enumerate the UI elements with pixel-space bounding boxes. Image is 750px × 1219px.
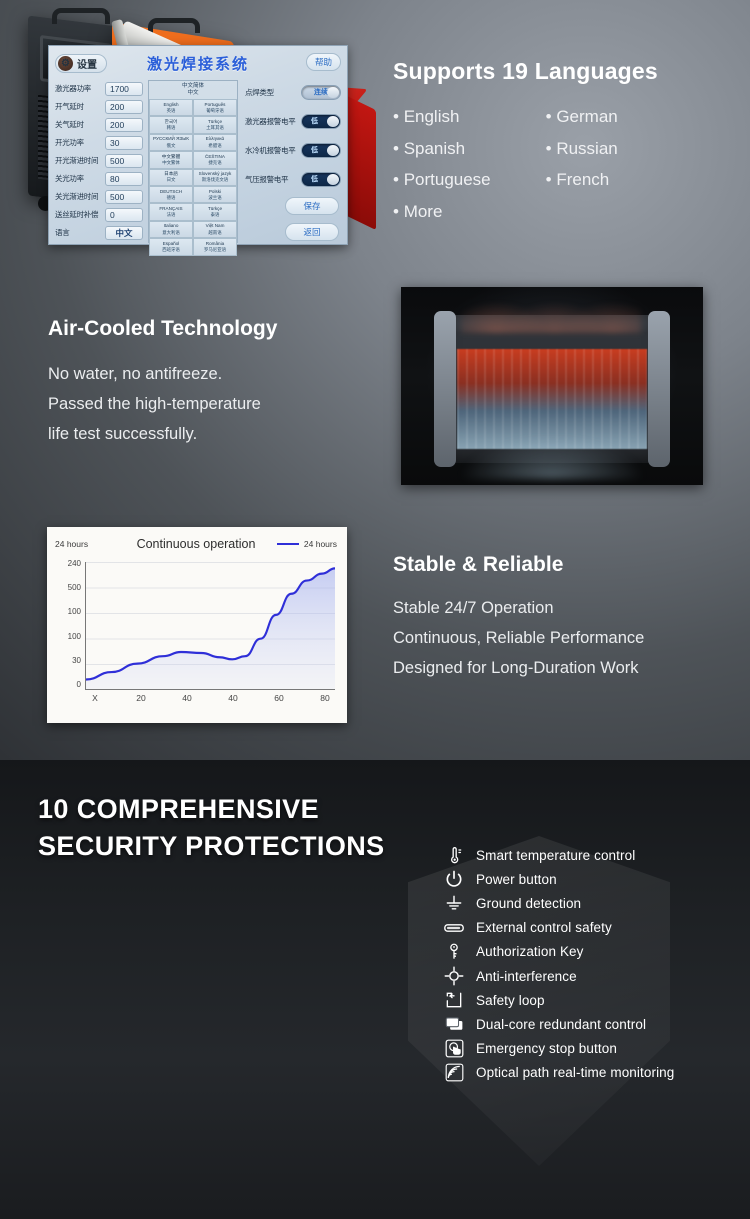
parameter-label: 关光功率 <box>55 173 102 184</box>
language-option[interactable]: Polski波兰语 <box>193 186 237 203</box>
legend-swatch <box>277 543 299 546</box>
language-option[interactable]: Italiano意大利语 <box>149 221 193 238</box>
dual-window-icon <box>443 1013 465 1035</box>
chart-plot: 240500100100300 X2040406080 <box>55 559 337 709</box>
languages-column-left: EnglishSpanishPortugueseMore <box>393 101 491 227</box>
languages-section: Supports 19 Languages EnglishSpanishPort… <box>393 58 723 227</box>
alarm-toggle-row: 水冷机报警电平低 <box>245 138 341 162</box>
language-option[interactable]: FRANÇAIS法语 <box>149 203 193 220</box>
security-feature-label: Safety loop <box>476 993 545 1008</box>
x-tick-label: X <box>92 693 98 703</box>
security-feature-list: Smart temperature controlPower buttonGro… <box>443 843 743 1085</box>
alarm-toggle-label: 激光器报警电平 <box>245 116 297 127</box>
language-option[interactable]: DEUTSCH德语 <box>149 186 193 203</box>
panel-icon <box>443 917 465 939</box>
stable-line-2: Continuous, Reliable Performance <box>393 623 733 653</box>
alarm-toggle[interactable]: 低 <box>301 114 341 129</box>
security-feature-label: Dual-core redundant control <box>476 1017 646 1032</box>
security-feature-row: External control safety <box>443 916 743 940</box>
thermal-test-photo <box>401 287 703 485</box>
alarm-toggle-value: 低 <box>311 116 318 128</box>
parameter-label: 开光功率 <box>55 137 102 148</box>
security-feature-row: Power button <box>443 867 743 891</box>
parameter-label: 开光渐进时间 <box>55 155 102 166</box>
thermometer-icon <box>443 844 465 866</box>
language-option[interactable]: 日本語日文 <box>149 169 193 186</box>
parameter-row: 语言中文 <box>55 224 143 241</box>
chart-x-axis: X2040406080 <box>85 693 335 707</box>
parameter-value[interactable]: 500 <box>105 154 143 168</box>
languages-column-right: GermanRussianFrench <box>546 101 618 227</box>
security-heading-line-2: SECURITY PROTECTIONS <box>38 828 458 865</box>
parameter-label: 关气延时 <box>55 119 102 130</box>
security-feature-row: Anti-interference <box>443 964 743 988</box>
language-bullet: Russian <box>546 133 618 165</box>
crosshair-icon <box>443 965 465 987</box>
security-heading: 10 COMPREHENSIVE SECURITY PROTECTIONS <box>38 791 458 865</box>
parameter-row: 关光渐进时间500 <box>55 188 143 205</box>
hmi-header: ⚙ 设置 激光焊接系统 帮助 <box>55 50 341 77</box>
power-icon <box>443 868 465 890</box>
language-selector[interactable]: 中文简体 中文 English英语Português葡萄牙语한국어韩语Türkç… <box>148 80 238 243</box>
y-tick-label: 30 <box>55 656 81 665</box>
security-feature-label: Smart temperature control <box>476 848 635 863</box>
ground-icon <box>443 892 465 914</box>
aircooled-heading: Air-Cooled Technology <box>48 317 378 341</box>
language-header-sub: 中文 <box>149 90 237 97</box>
stable-line-1: Stable 24/7 Operation <box>393 593 733 623</box>
language-bullet: Spanish <box>393 133 491 165</box>
chart-y-axis: 240500100100300 <box>55 559 81 689</box>
key-icon <box>443 941 465 963</box>
y-tick-label: 500 <box>55 583 81 592</box>
alarm-settings: 点焊类型连续激光器报警电平低水冷机报警电平低气压报警电平低 保存 返回 <box>243 80 341 243</box>
parameter-value[interactable]: 30 <box>105 136 143 150</box>
parameter-label: 语言 <box>55 227 102 238</box>
security-feature-label: Optical path real-time monitoring <box>476 1065 674 1080</box>
security-feature-row: Ground detection <box>443 891 743 915</box>
y-tick-label: 100 <box>55 632 81 641</box>
alarm-toggle-row: 气压报警电平低 <box>245 167 341 191</box>
language-option[interactable]: România罗马尼亚语 <box>193 238 237 255</box>
parameter-label: 激光器功率 <box>55 83 102 94</box>
parameter-value[interactable]: 200 <box>105 118 143 132</box>
chart-header: 24 hours Continuous operation 24 hours <box>55 535 337 553</box>
aircooled-line-1: No water, no antifreeze. <box>48 359 378 389</box>
language-option[interactable]: Türkçe泰语 <box>193 203 237 220</box>
security-feature-row: Smart temperature control <box>443 843 743 867</box>
stable-line-3: Designed for Long-Duration Work <box>393 653 733 683</box>
y-tick-label: 240 <box>55 559 81 568</box>
help-button[interactable]: 帮助 <box>306 53 341 71</box>
language-option[interactable]: ČEŠTINA捷克语 <box>193 151 237 168</box>
parameter-row: 激光器功率1700 <box>55 80 143 97</box>
alarm-toggle-row: 激光器报警电平低 <box>245 109 341 133</box>
chart-plot-area <box>85 562 335 690</box>
alarm-toggle-label: 气压报警电平 <box>245 174 297 185</box>
parameter-list: 激光器功率1700开气延时200关气延时200开光功率30开光渐进时间500关光… <box>55 80 143 243</box>
back-button[interactable]: 返回 <box>285 223 339 241</box>
security-feature-label: Authorization Key <box>476 944 584 959</box>
language-bullet: French <box>546 164 618 196</box>
stable-section: Stable & Reliable Stable 24/7 Operation … <box>393 553 733 683</box>
loop-icon <box>443 989 465 1011</box>
x-tick-label: 40 <box>228 693 237 703</box>
toggle-knob <box>327 174 339 185</box>
parameter-label: 开气延时 <box>55 101 102 112</box>
hand-press-icon <box>443 1038 465 1060</box>
y-tick-label: 100 <box>55 607 81 616</box>
language-option[interactable]: Türkçe土耳其语 <box>193 116 237 133</box>
x-tick-label: 80 <box>320 693 329 703</box>
parameter-row: 开气延时200 <box>55 98 143 115</box>
language-option[interactable]: 中文繁體中文繁体 <box>149 151 193 168</box>
security-feature-label: External control safety <box>476 920 612 935</box>
parameter-row: 开光功率30 <box>55 134 143 151</box>
toggle-knob <box>327 87 339 98</box>
aircooled-body: No water, no antifreeze. Passed the high… <box>48 359 378 449</box>
language-header: 中文简体 中文 <box>149 81 237 99</box>
hmi-action-buttons: 保存 返回 <box>285 189 339 241</box>
security-feature-row: Dual-core redundant control <box>443 1012 743 1036</box>
alarm-toggle-label: 点焊类型 <box>245 87 297 98</box>
language-grid: English英语Português葡萄牙语한국어韩语Türkçe土耳其语РУС… <box>149 99 237 256</box>
save-button[interactable]: 保存 <box>285 197 339 215</box>
alarm-toggle[interactable]: 低 <box>301 143 341 158</box>
language-option[interactable]: Slovenský jazyk斯洛伐克文语 <box>193 169 237 186</box>
x-tick-label: 20 <box>136 693 145 703</box>
parameter-value[interactable]: 中文 <box>105 226 143 240</box>
heat-smoke-shape <box>461 289 641 333</box>
x-tick-label: 40 <box>182 693 191 703</box>
radar-icon <box>443 1062 465 1084</box>
product-infographic-page: ⚙ 设置 激光焊接系统 帮助 激光器功率1700开气延时200关气延时200开光… <box>0 0 750 1219</box>
stable-heading: Stable & Reliable <box>393 553 733 577</box>
hmi-control-panel: ⚙ 设置 激光焊接系统 帮助 激光器功率1700开气延时200关气延时200开光… <box>48 45 348 245</box>
alarm-toggle[interactable]: 连续 <box>301 85 341 100</box>
parameter-value[interactable]: 200 <box>105 100 143 114</box>
aircooled-section: Air-Cooled Technology No water, no antif… <box>48 317 378 449</box>
language-option[interactable]: English英语 <box>149 99 193 116</box>
alarm-toggle-value: 连续 <box>314 87 328 99</box>
security-feature-label: Emergency stop button <box>476 1041 617 1056</box>
parameter-row: 开光渐进时间500 <box>55 152 143 169</box>
parameter-value[interactable]: 80 <box>105 172 143 186</box>
parameter-row: 送丝延时补偿0 <box>55 206 143 223</box>
toggle-knob <box>327 116 339 127</box>
alarm-toggle-row: 点焊类型连续 <box>245 80 341 104</box>
alarm-toggle-label: 水冷机报警电平 <box>245 145 297 156</box>
orange-machine-handle <box>148 18 200 33</box>
parameter-value[interactable]: 1700 <box>105 82 143 96</box>
languages-heading: Supports 19 Languages <box>393 58 723 85</box>
security-feature-row: Authorization Key <box>443 940 743 964</box>
security-feature-label: Power button <box>476 872 557 887</box>
languages-bullets: EnglishSpanishPortugueseMore GermanRussi… <box>393 101 723 227</box>
x-tick-label: 60 <box>274 693 283 703</box>
language-bullet: German <box>546 101 618 133</box>
legend-label: 24 hours <box>304 539 337 549</box>
security-heading-line-1: 10 COMPREHENSIVE <box>38 791 458 828</box>
language-option[interactable]: 한국어韩语 <box>149 116 193 133</box>
security-feature-row: Emergency stop button <box>443 1037 743 1061</box>
aircooled-line-2: Passed the high-temperature <box>48 389 378 419</box>
security-feature-label: Ground detection <box>476 896 581 911</box>
alarm-toggle-value: 低 <box>311 174 318 186</box>
language-header-top: 中文简体 <box>149 83 237 90</box>
parameter-row: 关光功率80 <box>55 170 143 187</box>
parameter-label: 送丝延时补偿 <box>55 209 102 220</box>
parameter-row: 关气延时200 <box>55 116 143 133</box>
language-option[interactable]: РУССКИЙ ЯЗЫК俄文 <box>149 134 193 151</box>
continuous-operation-chart: 24 hours Continuous operation 24 hours 2… <box>47 527 347 723</box>
parameter-value[interactable]: 500 <box>105 190 143 204</box>
cold-mist-shape <box>423 421 681 479</box>
security-feature-label: Anti-interference <box>476 969 577 984</box>
stable-body: Stable 24/7 Operation Continuous, Reliab… <box>393 593 733 683</box>
language-bullet: English <box>393 101 491 133</box>
language-option[interactable]: Español西班牙语 <box>149 238 193 255</box>
black-machine-handle <box>52 8 110 24</box>
language-option[interactable]: Việt Nam越南语 <box>193 221 237 238</box>
hmi-title: 激光焊接系统 <box>55 53 341 74</box>
parameter-value[interactable]: 0 <box>105 208 143 222</box>
chart-series-svg <box>86 562 335 689</box>
security-feature-row: Optical path real-time monitoring <box>443 1061 743 1085</box>
alarm-toggle-value: 低 <box>311 145 318 157</box>
chart-legend: 24 hours <box>277 539 337 549</box>
language-bullet: More <box>393 196 491 228</box>
language-option[interactable]: Português葡萄牙语 <box>193 99 237 116</box>
language-option[interactable]: Ελληνικά希腊语 <box>193 134 237 151</box>
toggle-knob <box>327 145 339 156</box>
y-tick-label: 0 <box>55 680 81 689</box>
alarm-toggle[interactable]: 低 <box>301 172 341 187</box>
hmi-body: 激光器功率1700开气延时200关气延时200开光功率30开光渐进时间500关光… <box>55 80 341 243</box>
aircooled-line-3: life test successfully. <box>48 419 378 449</box>
language-bullet: Portuguese <box>393 164 491 196</box>
parameter-label: 关光渐进时间 <box>55 191 102 202</box>
security-feature-row: Safety loop <box>443 988 743 1012</box>
